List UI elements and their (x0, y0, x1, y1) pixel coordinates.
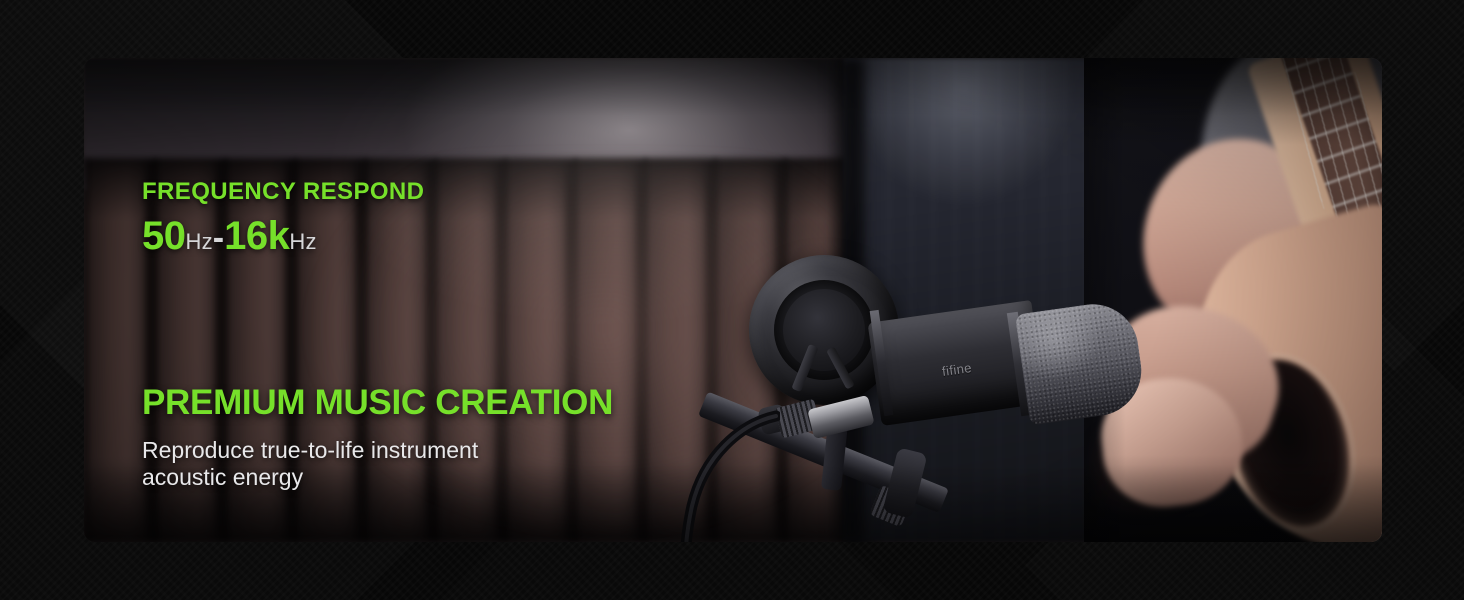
feature-description-line: acoustic energy (142, 464, 613, 491)
spec-high-unit: Hz (289, 229, 316, 254)
feature-description-line: Reproduce true-to-life instrument (142, 437, 613, 464)
microphone-foam-texture (1015, 298, 1147, 425)
frequency-spec-block: FREQUENCY RESPOND 50Hz-16kHz (142, 178, 424, 256)
feature-headline: PREMIUM MUSIC CREATION (142, 383, 613, 423)
spec-label: FREQUENCY RESPOND (142, 178, 424, 206)
feature-text-block: PREMIUM MUSIC CREATION Reproduce true-to… (142, 383, 613, 491)
spec-low-unit: Hz (186, 229, 213, 254)
spec-separator: - (213, 219, 224, 257)
product-banner: fifine FREQUENCY RESPOND 50Hz-16kHz (0, 0, 1464, 600)
spec-high-value: 16k (224, 214, 289, 258)
xlr-cable (680, 410, 780, 542)
feature-description: Reproduce true-to-life instrument acoust… (142, 437, 613, 491)
spec-value: 50Hz-16kHz (142, 216, 424, 256)
spec-low-value: 50 (142, 214, 186, 258)
product-photo-panel: fifine FREQUENCY RESPOND 50Hz-16kHz (84, 58, 1382, 542)
shock-mount-rear-face (783, 289, 865, 371)
